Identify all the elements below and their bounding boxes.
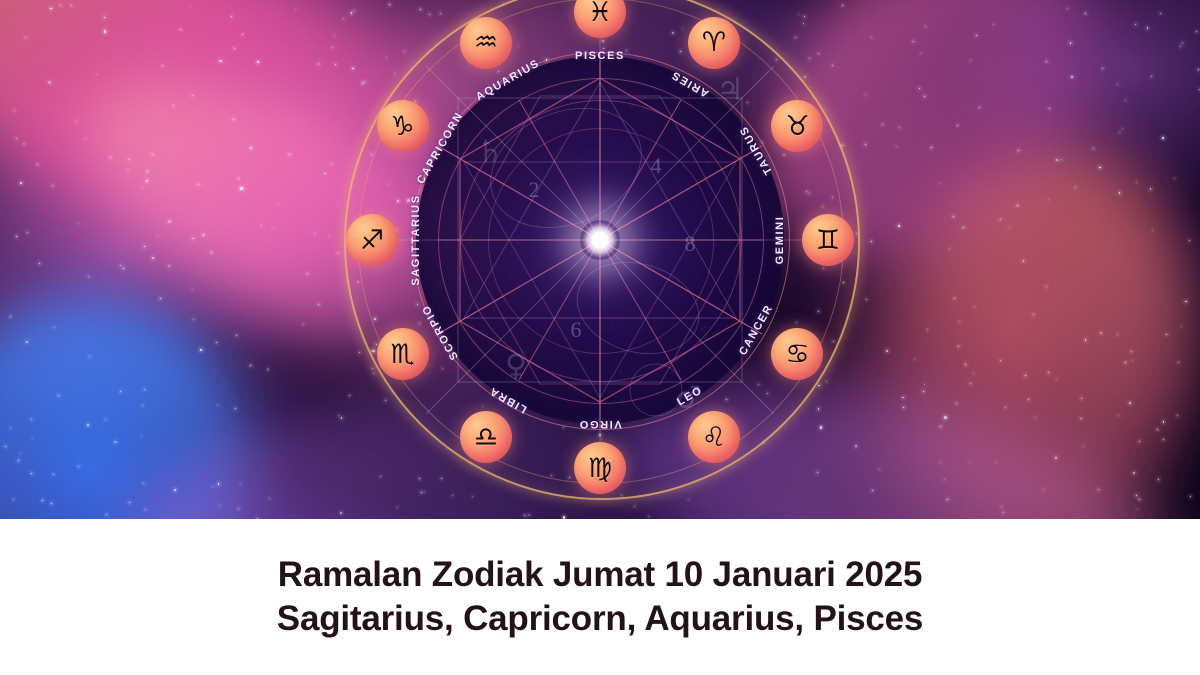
faint-planet-glyph-icon: ♂ (675, 381, 702, 416)
caption-area: Ramalan Zodiak Jumat 10 Januari 2025 Sag… (0, 519, 1200, 675)
faint-planet-glyph-icon: ♄ (477, 135, 504, 170)
nebula-streak (0, 237, 320, 519)
zodiac-article-image: ♈♉♊♋♌♍♎♏♐♑♒♓ ARIESTAURUSGEMINICANCERLEOV… (0, 0, 1200, 675)
space-background: ♈♉♊♋♌♍♎♏♐♑♒♓ ARIESTAURUSGEMINICANCERLEOV… (0, 0, 1200, 519)
zodiac-wheel: ♈♉♊♋♌♍♎♏♐♑♒♓ ARIESTAURUSGEMINICANCERLEOV… (338, 0, 862, 502)
house-number: 8 (685, 231, 696, 257)
caption-line-1: Ramalan Zodiak Jumat 10 Januari 2025 (278, 553, 923, 597)
caption-line-2: Sagitarius, Capricorn, Aquarius, Pisces (277, 597, 923, 641)
house-number: 6 (571, 317, 582, 343)
nebula-streak (852, 123, 1200, 519)
house-number: 4 (651, 153, 662, 179)
house-number: 2 (529, 177, 540, 203)
faint-planet-glyph-icon: ♃ (717, 73, 744, 108)
house-number-container: 2468♃♄♂♀ (338, 0, 862, 502)
faint-planet-glyph-icon: ♀ (505, 349, 527, 384)
